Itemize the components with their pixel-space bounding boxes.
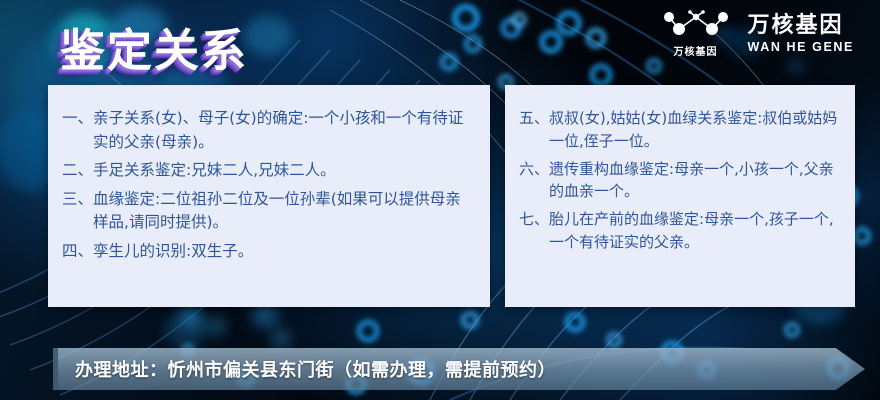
list-item-text: 孪生儿的识别:双生子。: [93, 240, 476, 264]
list-item-number: 五、: [519, 107, 549, 153]
list-item: 五、 叔叔(女),姑姑(女)血绿关系鉴定:叔伯或姑妈一位,侄子一位。: [519, 107, 841, 153]
brand-name-en: WAN HE GENE: [748, 40, 855, 54]
list-item-text: 血缘鉴定:二位祖孙二位及一位孙辈(如果可以提供母亲样品,请同时提供)。: [93, 188, 476, 235]
brand-names: 万核基因 WAN HE GENE: [748, 14, 855, 53]
bokeh-blob: [272, 330, 290, 348]
list-item-number: 六、: [519, 158, 549, 204]
list-item-number: 七、: [519, 208, 549, 254]
list-item-number: 一、: [62, 107, 93, 154]
poster-canvas: 鉴定关系: [0, 0, 880, 400]
list-item: 四、 孪生儿的识别:双生子。: [62, 240, 476, 264]
list-item: 七、 胎儿在产前的血缘鉴定:母亲一个,孩子一个,一个有待证实的父亲。: [519, 208, 841, 254]
list-item: 一、 亲子关系(女)、母子(女)的确定:一个小孩和一个有待证实的父亲(母亲)。: [62, 107, 476, 154]
list-item-number: 二、: [62, 159, 93, 183]
list-item-text: 胎儿在产前的血缘鉴定:母亲一个,孩子一个,一个有待证实的父亲。: [549, 208, 841, 254]
bokeh-blob: [180, 306, 202, 328]
bokeh-blob: [790, 60, 802, 72]
services-panel-left: 一、 亲子关系(女)、母子(女)的确定:一个小孩和一个有待证实的父亲(母亲)。 …: [48, 85, 490, 307]
address-text: 办理地址：忻州市偏关县东门街（如需办理，需提前预约）: [75, 348, 556, 390]
brand-mark: 万核基因: [660, 10, 732, 58]
list-item-number: 四、: [62, 240, 93, 264]
page-title: 鉴定关系: [60, 14, 248, 79]
molecule-network-icon: [660, 10, 732, 40]
list-item: 二、 手足关系鉴定:兄妹二人,兄妹二人。: [62, 159, 476, 183]
list-item-text: 遗传重构血缘鉴定:母亲一个,小孩一个,父亲的血亲一个。: [549, 158, 841, 204]
list-item-number: 三、: [62, 188, 93, 235]
brand-logo: 万核基因 万核基因 WAN HE GENE: [660, 10, 855, 58]
list-item: 三、 血缘鉴定:二位祖孙二位及一位孙辈(如果可以提供母亲样品,请同时提供)。: [62, 188, 476, 235]
ribbon-left-edge: [53, 348, 58, 390]
services-panel-right: 五、 叔叔(女),姑姑(女)血绿关系鉴定:叔伯或姑妈一位,侄子一位。 六、 遗传…: [505, 85, 855, 307]
list-item-text: 叔叔(女),姑姑(女)血绿关系鉴定:叔伯或姑妈一位,侄子一位。: [549, 107, 841, 153]
address-ribbon: 办理地址：忻州市偏关县东门街（如需办理，需提前预约）: [53, 348, 865, 390]
brand-name-cn: 万核基因: [748, 14, 855, 37]
list-item-text: 亲子关系(女)、母子(女)的确定:一个小孩和一个有待证实的父亲(母亲)。: [93, 107, 476, 154]
brand-mark-label: 万核基因: [674, 43, 718, 58]
bokeh-blob: [208, 318, 224, 334]
list-item: 六、 遗传重构血缘鉴定:母亲一个,小孩一个,父亲的血亲一个。: [519, 158, 841, 204]
list-item-text: 手足关系鉴定:兄妹二人,兄妹二人。: [93, 159, 476, 183]
